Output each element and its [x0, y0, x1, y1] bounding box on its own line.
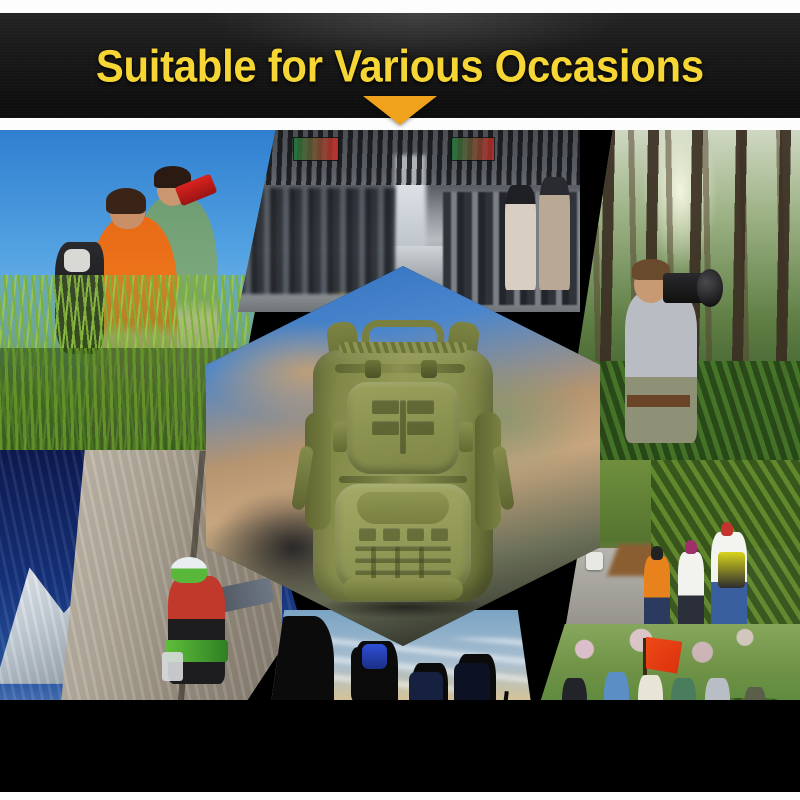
photographer-body	[625, 293, 697, 443]
tactical-backpack	[309, 320, 497, 608]
lower-compartment	[335, 484, 471, 592]
paracord-zipper-pulls	[339, 342, 467, 353]
helmet-three	[721, 522, 733, 536]
helmet-one	[651, 546, 663, 560]
molle-panel-lower	[355, 528, 451, 582]
cyclist-backpack	[718, 552, 744, 588]
distant-car	[586, 552, 603, 570]
platform-ceiling	[238, 130, 580, 185]
crowd-left	[238, 188, 395, 294]
sleeping-pad	[362, 644, 387, 669]
mid-zipper	[339, 476, 467, 483]
side-tab-right	[459, 422, 473, 452]
bottom-white-edge	[0, 792, 800, 800]
hiker-female-hair	[106, 188, 147, 214]
commuter-front	[539, 177, 570, 290]
bottom-black-band	[0, 700, 800, 792]
velcro-patch-panel	[357, 492, 449, 524]
top-white-edge	[0, 0, 800, 13]
upper-compartment	[347, 382, 459, 474]
molle-panel-upper	[372, 400, 434, 454]
marketing-banner: Suitable for Various Occasions	[0, 0, 800, 800]
hiker-backpack-pad	[64, 249, 90, 272]
tour-guide-flag	[646, 637, 682, 674]
helmet-two	[685, 540, 697, 554]
top-zipper	[335, 364, 465, 373]
cyclist-two	[678, 552, 704, 636]
platform-sign-left	[293, 137, 339, 161]
photographer-belt	[627, 395, 689, 407]
side-tab-left	[333, 422, 347, 452]
page-title: Suitable for Various Occasions	[0, 43, 800, 88]
backpack-base	[343, 578, 463, 600]
down-arrow-glow	[363, 96, 437, 125]
collage-grid	[0, 130, 800, 766]
page-title-text: Suitable for Various Occasions	[96, 43, 704, 88]
camera-lens	[697, 269, 723, 306]
climber-helmet	[171, 557, 207, 582]
zipper-pull-right	[421, 360, 437, 378]
platform-sign-right	[451, 137, 494, 161]
commuter-second	[505, 185, 536, 291]
zipper-pull-left	[365, 360, 381, 378]
climbing-gear	[162, 652, 183, 680]
